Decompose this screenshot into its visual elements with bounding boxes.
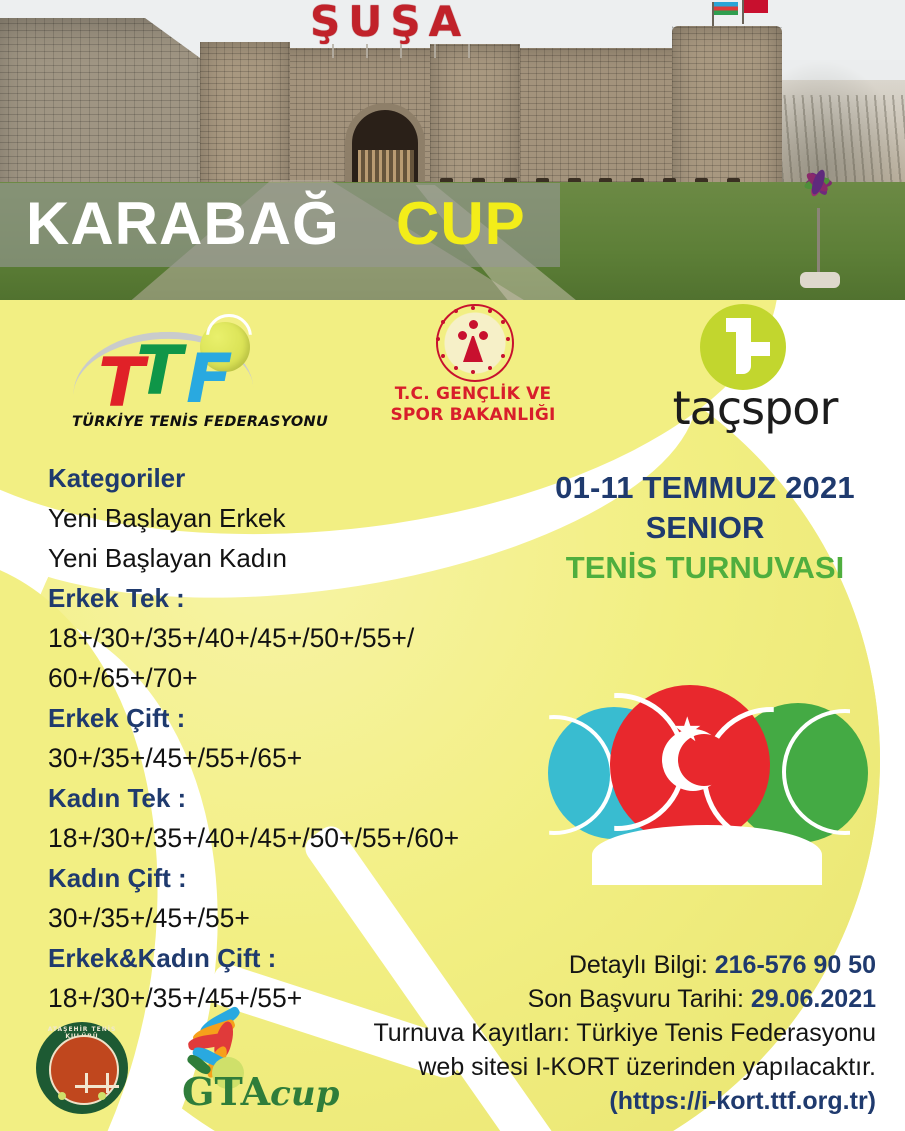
gta-cup-logo: GTAcup xyxy=(160,1015,340,1120)
registration-url[interactable]: (https://i-kort.ttf.org.tr) xyxy=(300,1084,876,1118)
ministry-caption: T.C. GENÇLİK VE SPOR BAKANLIĞI xyxy=(378,384,568,426)
category-group-values: 30+/35+/45+/55+/65+ xyxy=(48,738,518,778)
contact-deadline-label: Son Başvuru Tarihi: xyxy=(528,985,751,1013)
event-type: TENİS TURNUVASI xyxy=(520,548,890,588)
contact-deadline-value: 29.06.2021 xyxy=(751,985,876,1013)
atasehir-tennis-club-logo: ATAŞEHİR TENİS KULÜBÜ xyxy=(36,1022,128,1114)
contact-phone-label: Detaylı Bilgi: xyxy=(569,951,715,979)
pinwheel-base xyxy=(800,272,840,288)
susa-hillside-sign: ŞUŞA xyxy=(310,2,469,42)
ministry-figures-icon xyxy=(458,320,488,364)
azerbaijan-flag-icon xyxy=(714,2,738,15)
ministry-logo: T.C. GENÇLİK VE SPOR BAKANLIĞI xyxy=(378,304,568,444)
gta-word-main: GTA xyxy=(182,1069,270,1114)
susa-sign-supports xyxy=(316,44,486,58)
ttf-letter-t-green: T xyxy=(136,338,182,406)
poster-body: T T F TÜRKİYE TENİS FEDERASYONU xyxy=(0,300,905,1131)
category-group-values: 18+/30+/35+/40+/45+/50+/55+/60+ xyxy=(48,818,518,858)
tennis-ball-red-turkish-flag-icon: ★ xyxy=(610,685,770,845)
tacspor-wordmark: taçspor xyxy=(640,382,870,434)
ttf-monogram: T T F xyxy=(98,340,288,414)
category-group-label: Kadın Tek : xyxy=(48,778,518,818)
category-intro-line: Yeni Başlayan Kadın xyxy=(48,538,518,578)
tacspor-t-bar xyxy=(736,342,770,356)
tacspor-logo: taçspor xyxy=(640,304,870,444)
three-tennis-balls-graphic: ★ xyxy=(548,685,878,865)
poster-title-main: KARABAĞ xyxy=(26,193,340,255)
category-intro-line: Yeni Başlayan Erkek xyxy=(48,498,518,538)
ball-group-base-highlight xyxy=(592,825,822,885)
tacspor-t-dot xyxy=(726,318,740,332)
pinwheel-sculpture xyxy=(788,168,858,288)
category-group-label: Kadın Çift : xyxy=(48,858,518,898)
category-group-label: Erkek Tek : xyxy=(48,578,518,618)
event-dates: 01-11 TEMMUZ 2021 xyxy=(520,468,890,508)
sponsor-logo-row: T T F TÜRKİYE TENİS FEDERASYONU xyxy=(0,300,905,450)
fortress-photo-banner: ŞUŞA KARABAĞ CUP xyxy=(0,0,905,300)
registration-line-2: web sitesi I-KORT üzerinden yapılacaktır… xyxy=(300,1050,876,1084)
category-group-values: 60+/65+/70+ xyxy=(48,658,518,698)
category-group-values: 18+/30+/35+/40+/45+/50+/55+/ xyxy=(48,618,518,658)
registration-line-1: Turnuva Kayıtları: Türkiye Tenis Federas… xyxy=(300,1016,876,1050)
tournament-poster: ŞUŞA KARABAĞ CUP T T F TÜRKİYE xyxy=(0,0,905,1131)
categories-block: Kategoriler Yeni Başlayan Erkek Yeni Baş… xyxy=(48,458,518,1018)
ball-seam xyxy=(782,709,905,835)
gta-word-suffix: cup xyxy=(270,1074,339,1114)
ttf-caption: TÜRKİYE TENİS FEDERASYONU xyxy=(72,414,302,430)
contact-phone-row: Detaylı Bilgi: 216-576 90 50 xyxy=(300,948,876,982)
contact-deadline-row: Son Başvuru Tarihi: 29.06.2021 xyxy=(300,982,876,1016)
turkey-flag-icon xyxy=(744,0,768,13)
ministry-line-2: SPOR BAKANLIĞI xyxy=(378,405,568,426)
contact-block: Detaylı Bilgi: 216-576 90 50 Son Başvuru… xyxy=(300,948,876,1118)
category-group-values: 30+/35+/45+/55+ xyxy=(48,898,518,938)
gta-wordmark: GTAcup xyxy=(182,1071,339,1115)
poster-title-accent: CUP xyxy=(396,193,526,255)
categories-heading: Kategoriler xyxy=(48,458,518,498)
ttf-letter-f-blue: F xyxy=(186,346,232,414)
category-group-label: Erkek Çift : xyxy=(48,698,518,738)
bridge-icon xyxy=(75,1073,119,1095)
ttf-logo: T T F TÜRKİYE TENİS FEDERASYONU xyxy=(72,308,302,440)
pinwheel-pole xyxy=(817,208,820,278)
event-headline-block: 01-11 TEMMUZ 2021 SENIOR TENİS TURNUVASI xyxy=(520,468,890,588)
ministry-line-1: T.C. GENÇLİK VE xyxy=(378,384,568,405)
contact-phone-value: 216-576 90 50 xyxy=(715,951,876,979)
event-level: SENIOR xyxy=(520,508,890,548)
